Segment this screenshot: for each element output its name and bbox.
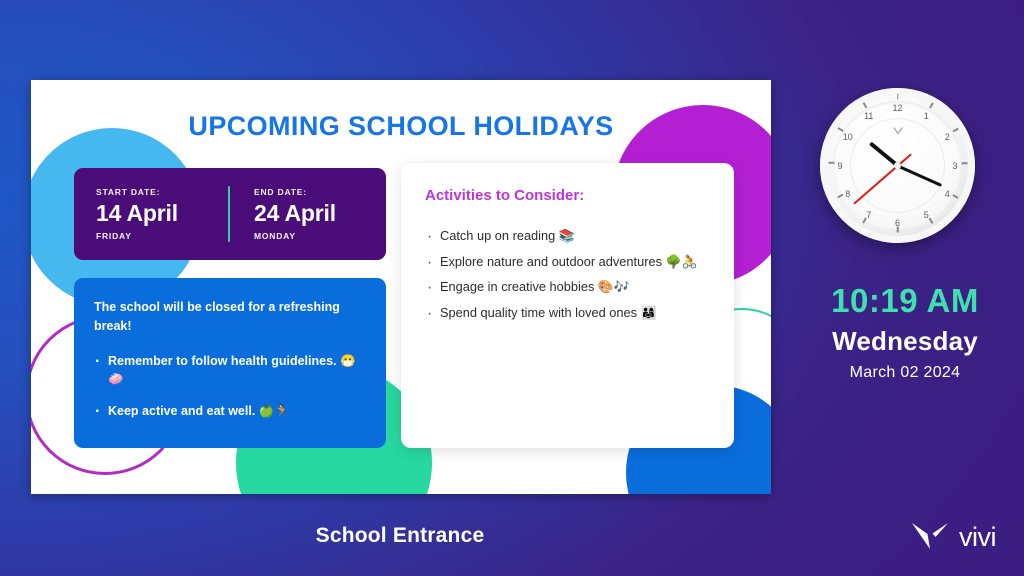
end-date-weekday: MONDAY (254, 231, 386, 241)
list-item: Explore nature and outdoor adventures 🌳🚴 (425, 252, 712, 273)
closure-notice-list: Remember to follow health guidelines. 😷🧼… (94, 352, 366, 420)
activities-list: Catch up on reading 📚 Explore nature and… (425, 226, 712, 324)
start-date-label: START DATE: (96, 187, 228, 197)
activities-card: Activities to Consider: Catch up on read… (401, 163, 734, 448)
vivi-logo-icon (910, 520, 950, 555)
current-date: March 02 2024 (790, 364, 1020, 382)
end-date-value: 24 April (254, 200, 386, 227)
start-date-weekday: FRIDAY (96, 231, 228, 241)
slide-canvas: UPCOMING SCHOOL HOLIDAYS START DATE: 14 … (31, 80, 771, 494)
vivi-wordmark: vivi (959, 522, 996, 553)
current-day-of-week: Wednesday (790, 326, 1020, 357)
clock-brand-mark (892, 122, 903, 140)
clock-numeral: 7 (866, 210, 871, 220)
list-item: Engage in creative hobbies 🎨🎶 (425, 277, 712, 298)
start-date-group: START DATE: 14 April FRIDAY (74, 187, 228, 241)
vivi-brand: vivi (910, 520, 996, 555)
start-date-value: 14 April (96, 200, 228, 227)
clock-numeral: 5 (924, 210, 929, 220)
digital-clock-block: 10:19 AM Wednesday March 02 2024 (790, 282, 1020, 382)
list-item: Catch up on reading 📚 (425, 226, 712, 247)
clock-tick (828, 162, 834, 164)
end-date-group: END DATE: 24 April MONDAY (230, 187, 386, 241)
current-time: 10:19 AM (790, 282, 1020, 320)
clock-numeral: 4 (945, 189, 950, 199)
end-date-label: END DATE: (254, 187, 386, 197)
signage-slide: UPCOMING SCHOOL HOLIDAYS START DATE: 14 … (31, 80, 771, 494)
clock-numeral: 11 (864, 111, 873, 121)
clock-center-hub (894, 162, 901, 169)
activities-card-title: Activities to Consider: (425, 187, 712, 204)
clock-tick (961, 162, 967, 164)
clock-numeral: 2 (945, 132, 950, 142)
slide-title: UPCOMING SCHOOL HOLIDAYS (31, 111, 771, 142)
clock-numeral: 12 (892, 103, 902, 113)
clock-numeral: 9 (837, 161, 842, 171)
clock-numeral: 3 (952, 161, 957, 171)
holiday-date-card: START DATE: 14 April FRIDAY END DATE: 24… (74, 168, 386, 260)
list-item: Keep active and eat well. 🍏🏃 (94, 402, 366, 420)
clock-tick (897, 93, 899, 99)
clock-numeral: 1 (924, 111, 929, 121)
closure-notice-card: The school will be closed for a refreshi… (74, 278, 386, 448)
analog-clock: 121234567891011 (820, 88, 975, 243)
closure-notice-lead: The school will be closed for a refreshi… (94, 298, 366, 336)
list-item: Spend quality time with loved ones 👨‍👩‍👧 (425, 303, 712, 324)
room-name-label: School Entrance (0, 524, 800, 548)
clock-numeral: 10 (843, 132, 853, 142)
list-item: Remember to follow health guidelines. 😷🧼 (94, 352, 366, 388)
clock-numeral: 8 (845, 189, 850, 199)
clock-numeral: 6 (895, 218, 900, 228)
